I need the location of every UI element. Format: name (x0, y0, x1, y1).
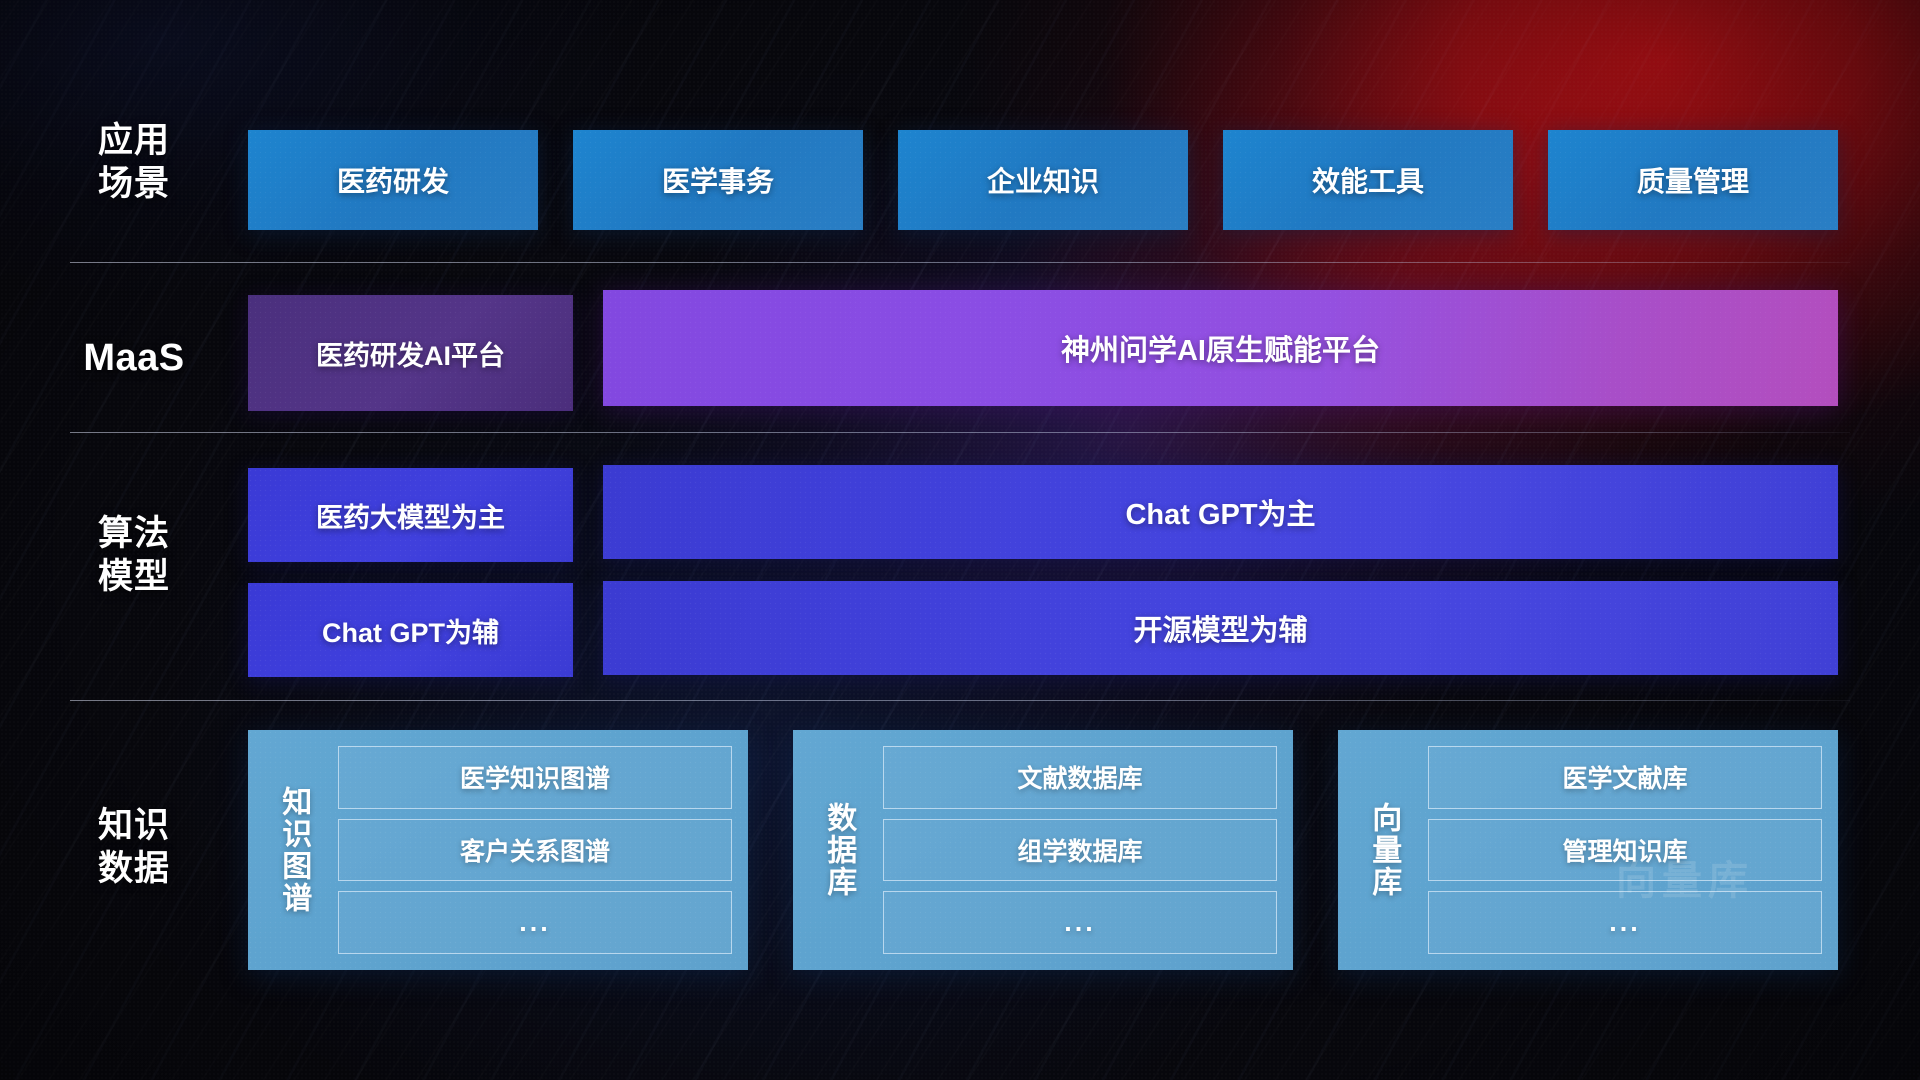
row-label-line: MaaS (70, 337, 198, 380)
knowledge-card-item-list: 文献数据库 组学数据库 ... (869, 746, 1277, 954)
app-box-medicine-rd[interactable]: 医药研发 (248, 130, 538, 230)
knowledge-card-database[interactable]: 数据库 文献数据库 组学数据库 ... (793, 730, 1293, 970)
algorithm-box-chatgpt-secondary[interactable]: Chat GPT为辅 (248, 583, 573, 677)
app-box-label: 医学事务 (662, 160, 774, 200)
row-label-knowledge-data: 知识 数据 (70, 804, 198, 890)
algorithm-box-label: Chat GPT为主 (1125, 491, 1315, 533)
app-box-efficiency-tools[interactable]: 效能工具 (1223, 130, 1513, 230)
algorithm-box-chatgpt-primary[interactable]: Chat GPT为主 (603, 465, 1838, 559)
algorithm-box-label: 医药大模型为主 (316, 496, 505, 535)
knowledge-card-item-list: 医学文献库 管理知识库 ... (1414, 746, 1822, 954)
divider-after-maas (70, 432, 1850, 433)
app-box-label: 质量管理 (1637, 160, 1749, 200)
slide-canvas: 应用 场景 医药研发 医学事务 企业知识 效能工具 质量管理 MaaS 医药研发… (0, 0, 1920, 1080)
app-box-medical-affairs[interactable]: 医学事务 (573, 130, 863, 230)
row-label-line: 模型 (70, 555, 198, 598)
knowledge-card-title: 数据库 (807, 746, 869, 954)
knowledge-card-title: 知识图谱 (262, 746, 324, 954)
algorithm-box-opensource-secondary[interactable]: 开源模型为辅 (603, 581, 1838, 675)
knowledge-card-item[interactable]: 组学数据库 (883, 819, 1277, 882)
row-label-maas: MaaS (70, 337, 198, 380)
row-label-line: 场景 (70, 162, 198, 205)
app-box-label: 效能工具 (1312, 160, 1424, 200)
row-label-application-scenarios: 应用 场景 (70, 119, 198, 205)
row-label-line: 算法 (70, 512, 198, 555)
knowledge-card-item[interactable]: 文献数据库 (883, 746, 1277, 809)
divider-after-algorithm-models (70, 700, 1850, 701)
row-label-algorithm-models: 算法 模型 (70, 512, 198, 598)
maas-box-label: 医药研发AI平台 (316, 334, 505, 373)
knowledge-card-item-more[interactable]: ... (1428, 891, 1822, 954)
app-box-quality-management[interactable]: 质量管理 (1548, 130, 1838, 230)
knowledge-card-title: 向量库 (1352, 746, 1414, 954)
app-box-label: 企业知识 (987, 160, 1099, 200)
algorithm-box-medicine-llm-primary[interactable]: 医药大模型为主 (248, 468, 573, 562)
row-label-line: 应用 (70, 119, 198, 162)
knowledge-card-item-more[interactable]: ... (338, 891, 732, 954)
knowledge-card-item-more[interactable]: ... (883, 891, 1277, 954)
knowledge-card-item[interactable]: 医学知识图谱 (338, 746, 732, 809)
knowledge-card-knowledge-graph[interactable]: 知识图谱 医学知识图谱 客户关系图谱 ... (248, 730, 748, 970)
maas-box-label: 神州问学AI原生赋能平台 (1061, 327, 1380, 369)
knowledge-card-vector-database[interactable]: 向量库 向量库 医学文献库 管理知识库 ... (1338, 730, 1838, 970)
divider-after-application-scenarios (70, 262, 1850, 263)
maas-box-shenzhou-wenxue-platform[interactable]: 神州问学AI原生赋能平台 (603, 290, 1838, 406)
knowledge-card-item[interactable]: 客户关系图谱 (338, 819, 732, 882)
row-label-line: 知识 (70, 804, 198, 847)
knowledge-card-item[interactable]: 医学文献库 (1428, 746, 1822, 809)
algorithm-box-label: 开源模型为辅 (1133, 607, 1307, 649)
knowledge-card-item[interactable]: 管理知识库 (1428, 819, 1822, 882)
row-label-line: 数据 (70, 847, 198, 890)
app-box-enterprise-knowledge[interactable]: 企业知识 (898, 130, 1188, 230)
app-box-label: 医药研发 (337, 160, 449, 200)
knowledge-card-item-list: 医学知识图谱 客户关系图谱 ... (324, 746, 732, 954)
maas-box-medicine-ai-platform[interactable]: 医药研发AI平台 (248, 295, 573, 411)
algorithm-box-label: Chat GPT为辅 (322, 611, 499, 650)
